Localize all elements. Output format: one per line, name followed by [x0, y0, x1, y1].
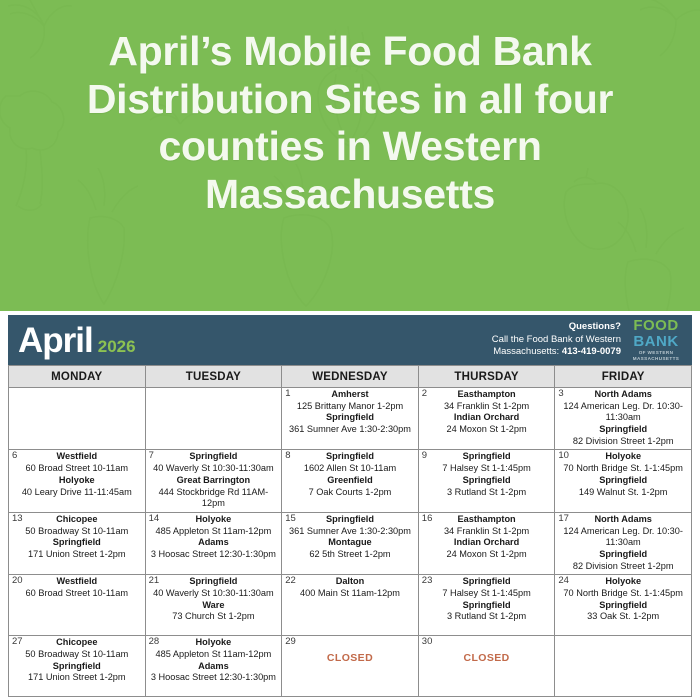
site-name: Easthampton	[422, 514, 552, 526]
calendar-header-bar: April 2026 Questions? Call the Food Bank…	[8, 315, 692, 365]
site-name: Springfield	[12, 661, 142, 673]
site-address-time: 73 Church St 1-2pm	[149, 611, 279, 623]
site-name: Amherst	[285, 389, 415, 401]
site-name: Great Barrington	[149, 475, 279, 487]
site-address-time: 60 Broad Street 10-11am	[12, 588, 142, 600]
day-number: 13	[12, 514, 23, 524]
questions-text: Questions? Call the Food Bank of Western…	[492, 321, 621, 359]
site-address-time: 24 Moxon St 1-2pm	[422, 549, 552, 561]
calendar-cell-day-16[interactable]: 16Easthampton34 Franklin St 1-2pmIndian …	[418, 512, 555, 574]
logo-word-bank: BANK	[627, 334, 685, 349]
day-number: 21	[149, 576, 160, 586]
calendar-cell-day-29[interactable]: 29CLOSED	[282, 636, 419, 697]
site-name: North Adams	[558, 389, 688, 401]
calendar-cell-day-14[interactable]: 14Holyoke485 Appleton St 11am-12pmAdams3…	[145, 512, 282, 574]
site-name: Springfield	[558, 424, 688, 436]
day-number: 7	[149, 451, 154, 461]
day-number: 23	[422, 576, 433, 586]
day-number: 9	[422, 451, 427, 461]
site-address-time: 40 Waverly St 10:30-11:30am	[149, 463, 279, 475]
distribution-list: Springfield1602 Allen St 10-11amGreenfie…	[282, 450, 418, 500]
hero-banner: April’s Mobile Food Bank Distribution Si…	[0, 0, 700, 311]
site-name: Holyoke	[149, 637, 279, 649]
weekday-header-thursday: THURSDAY	[418, 366, 555, 388]
weekday-header-monday: MONDAY	[9, 366, 146, 388]
site-address-time: 149 Walnut St. 1-2pm	[558, 487, 688, 499]
day-number: 27	[12, 637, 23, 647]
food-bank-logo: FOOD BANK OF WESTERN MASSACHUSETTS	[627, 318, 685, 361]
calendar-cell-empty	[555, 636, 692, 697]
distribution-list: Springfield40 Waverly St 10:30-11:30amGr…	[146, 450, 282, 511]
day-number: 2	[422, 389, 427, 399]
day-number: 22	[285, 576, 296, 586]
calendar-cell-day-17[interactable]: 17North Adams124 American Leg. Dr. 10:30…	[555, 512, 692, 574]
site-name: Chicopee	[12, 514, 142, 526]
site-address-time: 3 Hoosac Street 12:30-1:30pm	[149, 549, 279, 561]
site-address-time: 1602 Allen St 10-11am	[285, 463, 415, 475]
site-address-time: 60 Broad Street 10-11am	[12, 463, 142, 475]
distribution-list: Westfield60 Broad Street 10-11am	[9, 575, 145, 601]
day-number: 10	[558, 451, 569, 461]
site-name: Chicopee	[12, 637, 142, 649]
day-number: 16	[422, 514, 433, 524]
site-address-time: 34 Franklin St 1-2pm	[422, 401, 552, 413]
site-name: Holyoke	[558, 451, 688, 463]
site-address-time: 3 Rutland St 1-2pm	[422, 611, 552, 623]
site-address-time: 400 Main St 11am-12pm	[285, 588, 415, 600]
page-title: April’s Mobile Food Bank Distribution Si…	[0, 0, 700, 218]
weekday-header-wednesday: WEDNESDAY	[282, 366, 419, 388]
day-number: 28	[149, 637, 160, 647]
day-number: 14	[149, 514, 160, 524]
distribution-list: Dalton400 Main St 11am-12pm	[282, 575, 418, 601]
site-name: Dalton	[285, 576, 415, 588]
site-name: Springfield	[149, 451, 279, 463]
site-address-time: 82 Division Street 1-2pm	[558, 561, 688, 573]
site-name: Ware	[149, 600, 279, 612]
site-address-time: 62 5th Street 1-2pm	[285, 549, 415, 561]
weekday-header-friday: FRIDAY	[555, 366, 692, 388]
site-address-time: 485 Appleton St 11am-12pm	[149, 649, 279, 661]
site-name: Springfield	[285, 514, 415, 526]
site-address-time: 124 American Leg. Dr. 10:30-11:30am	[558, 526, 688, 549]
calendar-week-row: 6Westfield60 Broad Street 10-11amHolyoke…	[9, 450, 692, 512]
calendar-week-row: 1Amherst125 Brittany Manor 1-2pmSpringfi…	[9, 388, 692, 450]
site-address-time: 361 Sumner Ave 1:30-2:30pm	[285, 526, 415, 538]
calendar-cell-day-22[interactable]: 22Dalton400 Main St 11am-12pm	[282, 575, 419, 636]
site-address-time: 171 Union Street 1-2pm	[12, 672, 142, 684]
site-address-time: 171 Union Street 1-2pm	[12, 549, 142, 561]
site-address-time: 361 Sumner Ave 1:30-2:30pm	[285, 424, 415, 436]
day-number: 6	[12, 451, 17, 461]
site-name: Holyoke	[149, 514, 279, 526]
site-name: Springfield	[422, 600, 552, 612]
distribution-list: Chicopee50 Broadway St 10-11amSpringfiel…	[9, 636, 145, 686]
site-name: Holyoke	[558, 576, 688, 588]
calendar-body: 1Amherst125 Brittany Manor 1-2pmSpringfi…	[9, 388, 692, 697]
calendar-cell-day-30[interactable]: 30CLOSED	[418, 636, 555, 697]
distribution-list: Amherst125 Brittany Manor 1-2pmSpringfie…	[282, 388, 418, 438]
site-name: Greenfield	[285, 475, 415, 487]
distribution-list: Springfield40 Waverly St 10:30-11:30amWa…	[146, 575, 282, 625]
calendar-week-row: 13Chicopee50 Broadway St 10-11amSpringfi…	[9, 512, 692, 574]
day-number: 3	[558, 389, 563, 399]
month-year: 2026	[98, 338, 136, 355]
site-name: Springfield	[422, 576, 552, 588]
day-number: 30	[422, 637, 433, 647]
calendar-grid: MONDAY TUESDAY WEDNESDAY THURSDAY FRIDAY…	[8, 365, 692, 697]
questions-line3-prefix: Massachusetts:	[493, 346, 559, 357]
calendar-cell-day-7[interactable]: 7Springfield40 Waverly St 10:30-11:30amG…	[145, 450, 282, 512]
site-name: Westfield	[12, 451, 142, 463]
site-name: Springfield	[558, 475, 688, 487]
distribution-list: Springfield361 Sumner Ave 1:30-2:30pmMon…	[282, 513, 418, 563]
site-address-time: 125 Brittany Manor 1-2pm	[285, 401, 415, 413]
distribution-list: Easthampton34 Franklin St 1-2pmIndian Or…	[419, 388, 555, 438]
site-name: Montague	[285, 537, 415, 549]
site-address-time: 82 Division Street 1-2pm	[558, 436, 688, 448]
site-address-time: 444 Stockbridge Rd 11AM-12pm	[149, 487, 279, 510]
site-address-time: 7 Halsey St 1-1:45pm	[422, 588, 552, 600]
site-address-time: 3 Hoosac Street 12:30-1:30pm	[149, 672, 279, 684]
site-name: Holyoke	[12, 475, 142, 487]
site-name: Springfield	[422, 451, 552, 463]
closed-label: CLOSED	[419, 652, 555, 664]
site-name: Springfield	[422, 475, 552, 487]
site-address-time: 7 Oak Courts 1-2pm	[285, 487, 415, 499]
calendar-cell-day-15[interactable]: 15Springfield361 Sumner Ave 1:30-2:30pmM…	[282, 512, 419, 574]
calendar-cell-day-24[interactable]: 24Holyoke70 North Bridge St. 1-1:45pmSpr…	[555, 575, 692, 636]
calendar-cell-day-28[interactable]: 28Holyoke485 Appleton St 11am-12pmAdams3…	[145, 636, 282, 697]
distribution-list: Holyoke485 Appleton St 11am-12pmAdams3 H…	[146, 636, 282, 686]
site-address-time: 34 Franklin St 1-2pm	[422, 526, 552, 538]
day-number: 8	[285, 451, 290, 461]
distribution-list: North Adams124 American Leg. Dr. 10:30-1…	[555, 388, 691, 449]
day-number: 1	[285, 389, 290, 399]
calendar-week-row: 20Westfield60 Broad Street 10-11am21Spri…	[9, 575, 692, 636]
calendar-cell-day-9[interactable]: 9Springfield7 Halsey St 1-1:45pmSpringfi…	[418, 450, 555, 512]
logo-subtitle-massachusetts: MASSACHUSETTS	[627, 357, 685, 362]
site-address-time: 70 North Bridge St. 1-1:45pm	[558, 588, 688, 600]
site-name: Springfield	[285, 451, 415, 463]
calendar-cell-day-20[interactable]: 20Westfield60 Broad Street 10-11am	[9, 575, 146, 636]
weekday-header-row: MONDAY TUESDAY WEDNESDAY THURSDAY FRIDAY	[9, 366, 692, 388]
logo-subtitle-of-western: OF WESTERN	[627, 351, 685, 356]
logo-word-food: FOOD	[627, 318, 685, 333]
site-name: Springfield	[558, 600, 688, 612]
day-number: 24	[558, 576, 569, 586]
questions-line3: Massachusetts: 413-419-0079	[492, 346, 621, 359]
site-address-time: 124 American Leg. Dr. 10:30-11:30am	[558, 401, 688, 424]
site-name: Easthampton	[422, 389, 552, 401]
day-number: 15	[285, 514, 296, 524]
weekday-header-tuesday: TUESDAY	[145, 366, 282, 388]
distribution-list: Holyoke70 North Bridge St. 1-1:45pmSprin…	[555, 450, 691, 500]
header-contact-block: Questions? Call the Food Bank of Western…	[492, 318, 685, 361]
site-address-time: 3 Rutland St 1-2pm	[422, 487, 552, 499]
closed-label: CLOSED	[282, 652, 418, 664]
site-address-time: 40 Leary Drive 11-11:45am	[12, 487, 142, 499]
month-title-block: April 2026	[18, 323, 136, 358]
day-number: 29	[285, 637, 296, 647]
site-name: Adams	[149, 661, 279, 673]
distribution-list: Springfield7 Halsey St 1-1:45pmSpringfie…	[419, 450, 555, 500]
distribution-list: Easthampton34 Franklin St 1-2pmIndian Or…	[419, 513, 555, 563]
questions-heading: Questions?	[492, 321, 621, 334]
site-address-time: 50 Broadway St 10-11am	[12, 526, 142, 538]
site-address-time: 24 Moxon St 1-2pm	[422, 424, 552, 436]
calendar-cell-day-6[interactable]: 6Westfield60 Broad Street 10-11amHolyoke…	[9, 450, 146, 512]
site-name: Indian Orchard	[422, 412, 552, 424]
site-name: Adams	[149, 537, 279, 549]
calendar-cell-day-23[interactable]: 23Springfield7 Halsey St 1-1:45pmSpringf…	[418, 575, 555, 636]
site-name: Springfield	[12, 537, 142, 549]
calendar-cell-day-2[interactable]: 2Easthampton34 Franklin St 1-2pmIndian O…	[418, 388, 555, 450]
calendar-cell-day-1[interactable]: 1Amherst125 Brittany Manor 1-2pmSpringfi…	[282, 388, 419, 450]
site-address-time: 7 Halsey St 1-1:45pm	[422, 463, 552, 475]
calendar-cell-day-10[interactable]: 10Holyoke70 North Bridge St. 1-1:45pmSpr…	[555, 450, 692, 512]
questions-line2: Call the Food Bank of Western	[492, 334, 621, 347]
calendar-cell-day-21[interactable]: 21Springfield40 Waverly St 10:30-11:30am…	[145, 575, 282, 636]
calendar-week-row: 27Chicopee50 Broadway St 10-11amSpringfi…	[9, 636, 692, 697]
distribution-list: Chicopee50 Broadway St 10-11amSpringfiel…	[9, 513, 145, 563]
site-address-time: 485 Appleton St 11am-12pm	[149, 526, 279, 538]
calendar-cell-day-13[interactable]: 13Chicopee50 Broadway St 10-11amSpringfi…	[9, 512, 146, 574]
distribution-list: Westfield60 Broad Street 10-11amHolyoke4…	[9, 450, 145, 500]
day-number: 17	[558, 514, 569, 524]
calendar-cell-day-27[interactable]: 27Chicopee50 Broadway St 10-11amSpringfi…	[9, 636, 146, 697]
site-name: Springfield	[558, 549, 688, 561]
calendar-container: April 2026 Questions? Call the Food Bank…	[0, 311, 700, 700]
site-name: Springfield	[285, 412, 415, 424]
calendar-cell-empty	[145, 388, 282, 450]
day-number: 20	[12, 576, 23, 586]
distribution-list: Springfield7 Halsey St 1-1:45pmSpringfie…	[419, 575, 555, 625]
distribution-list: Holyoke485 Appleton St 11am-12pmAdams3 H…	[146, 513, 282, 563]
month-name: April	[18, 323, 93, 358]
site-name: Westfield	[12, 576, 142, 588]
site-name: North Adams	[558, 514, 688, 526]
calendar-cell-day-3[interactable]: 3North Adams124 American Leg. Dr. 10:30-…	[555, 388, 692, 450]
site-address-time: 40 Waverly St 10:30-11:30am	[149, 588, 279, 600]
site-address-time: 33 Oak St. 1-2pm	[558, 611, 688, 623]
site-name: Springfield	[149, 576, 279, 588]
distribution-list: North Adams124 American Leg. Dr. 10:30-1…	[555, 513, 691, 574]
calendar-cell-empty	[9, 388, 146, 450]
distribution-list: Holyoke70 North Bridge St. 1-1:45pmSprin…	[555, 575, 691, 625]
site-address-time: 50 Broadway St 10-11am	[12, 649, 142, 661]
site-address-time: 70 North Bridge St. 1-1:45pm	[558, 463, 688, 475]
site-name: Indian Orchard	[422, 537, 552, 549]
calendar-cell-day-8[interactable]: 8Springfield1602 Allen St 10-11amGreenfi…	[282, 450, 419, 512]
phone-number[interactable]: 413-419-0079	[562, 346, 621, 357]
